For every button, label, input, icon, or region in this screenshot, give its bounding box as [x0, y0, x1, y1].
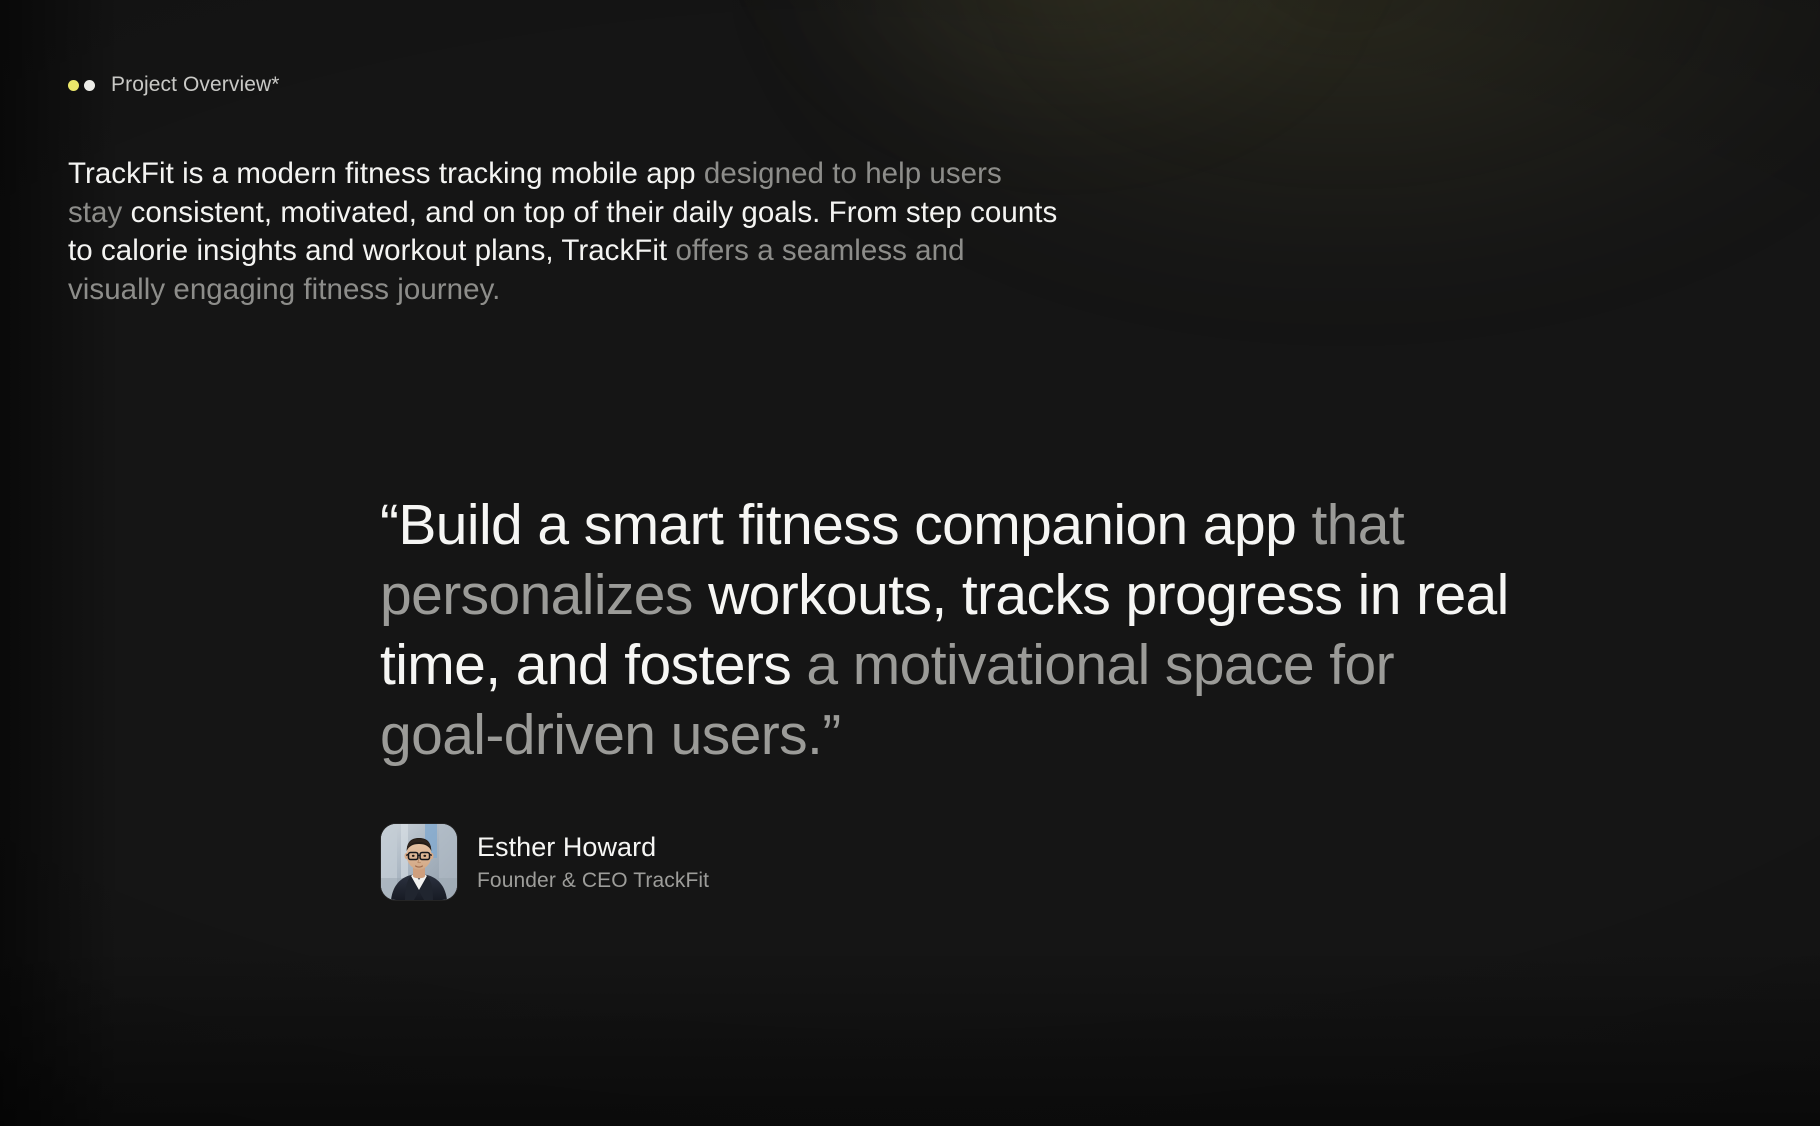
dot-yellow-icon	[68, 80, 79, 91]
status-dots	[68, 80, 95, 91]
slide-content: Project Overview* TrackFit is a modern f…	[0, 0, 1820, 1126]
quote-segment-1: “Build a smart fitness companion app	[380, 493, 1311, 557]
attribution-text: Esther Howard Founder & CEO TrackFit	[477, 830, 709, 895]
pull-quote: “Build a smart fitness companion app tha…	[380, 490, 1520, 770]
section-eyebrow: Project Overview*	[68, 70, 280, 100]
attribution-role: Founder & CEO TrackFit	[477, 867, 709, 895]
section-label: Project Overview*	[111, 73, 280, 97]
avatar	[381, 824, 457, 900]
quote-attribution: Esther Howard Founder & CEO TrackFit	[381, 824, 709, 900]
attribution-name: Esther Howard	[477, 830, 709, 864]
project-overview-paragraph: TrackFit is a modern fitness tracking mo…	[68, 155, 1058, 309]
intro-segment-1: TrackFit is a modern fitness tracking mo…	[68, 157, 704, 190]
dot-white-icon	[84, 80, 95, 91]
